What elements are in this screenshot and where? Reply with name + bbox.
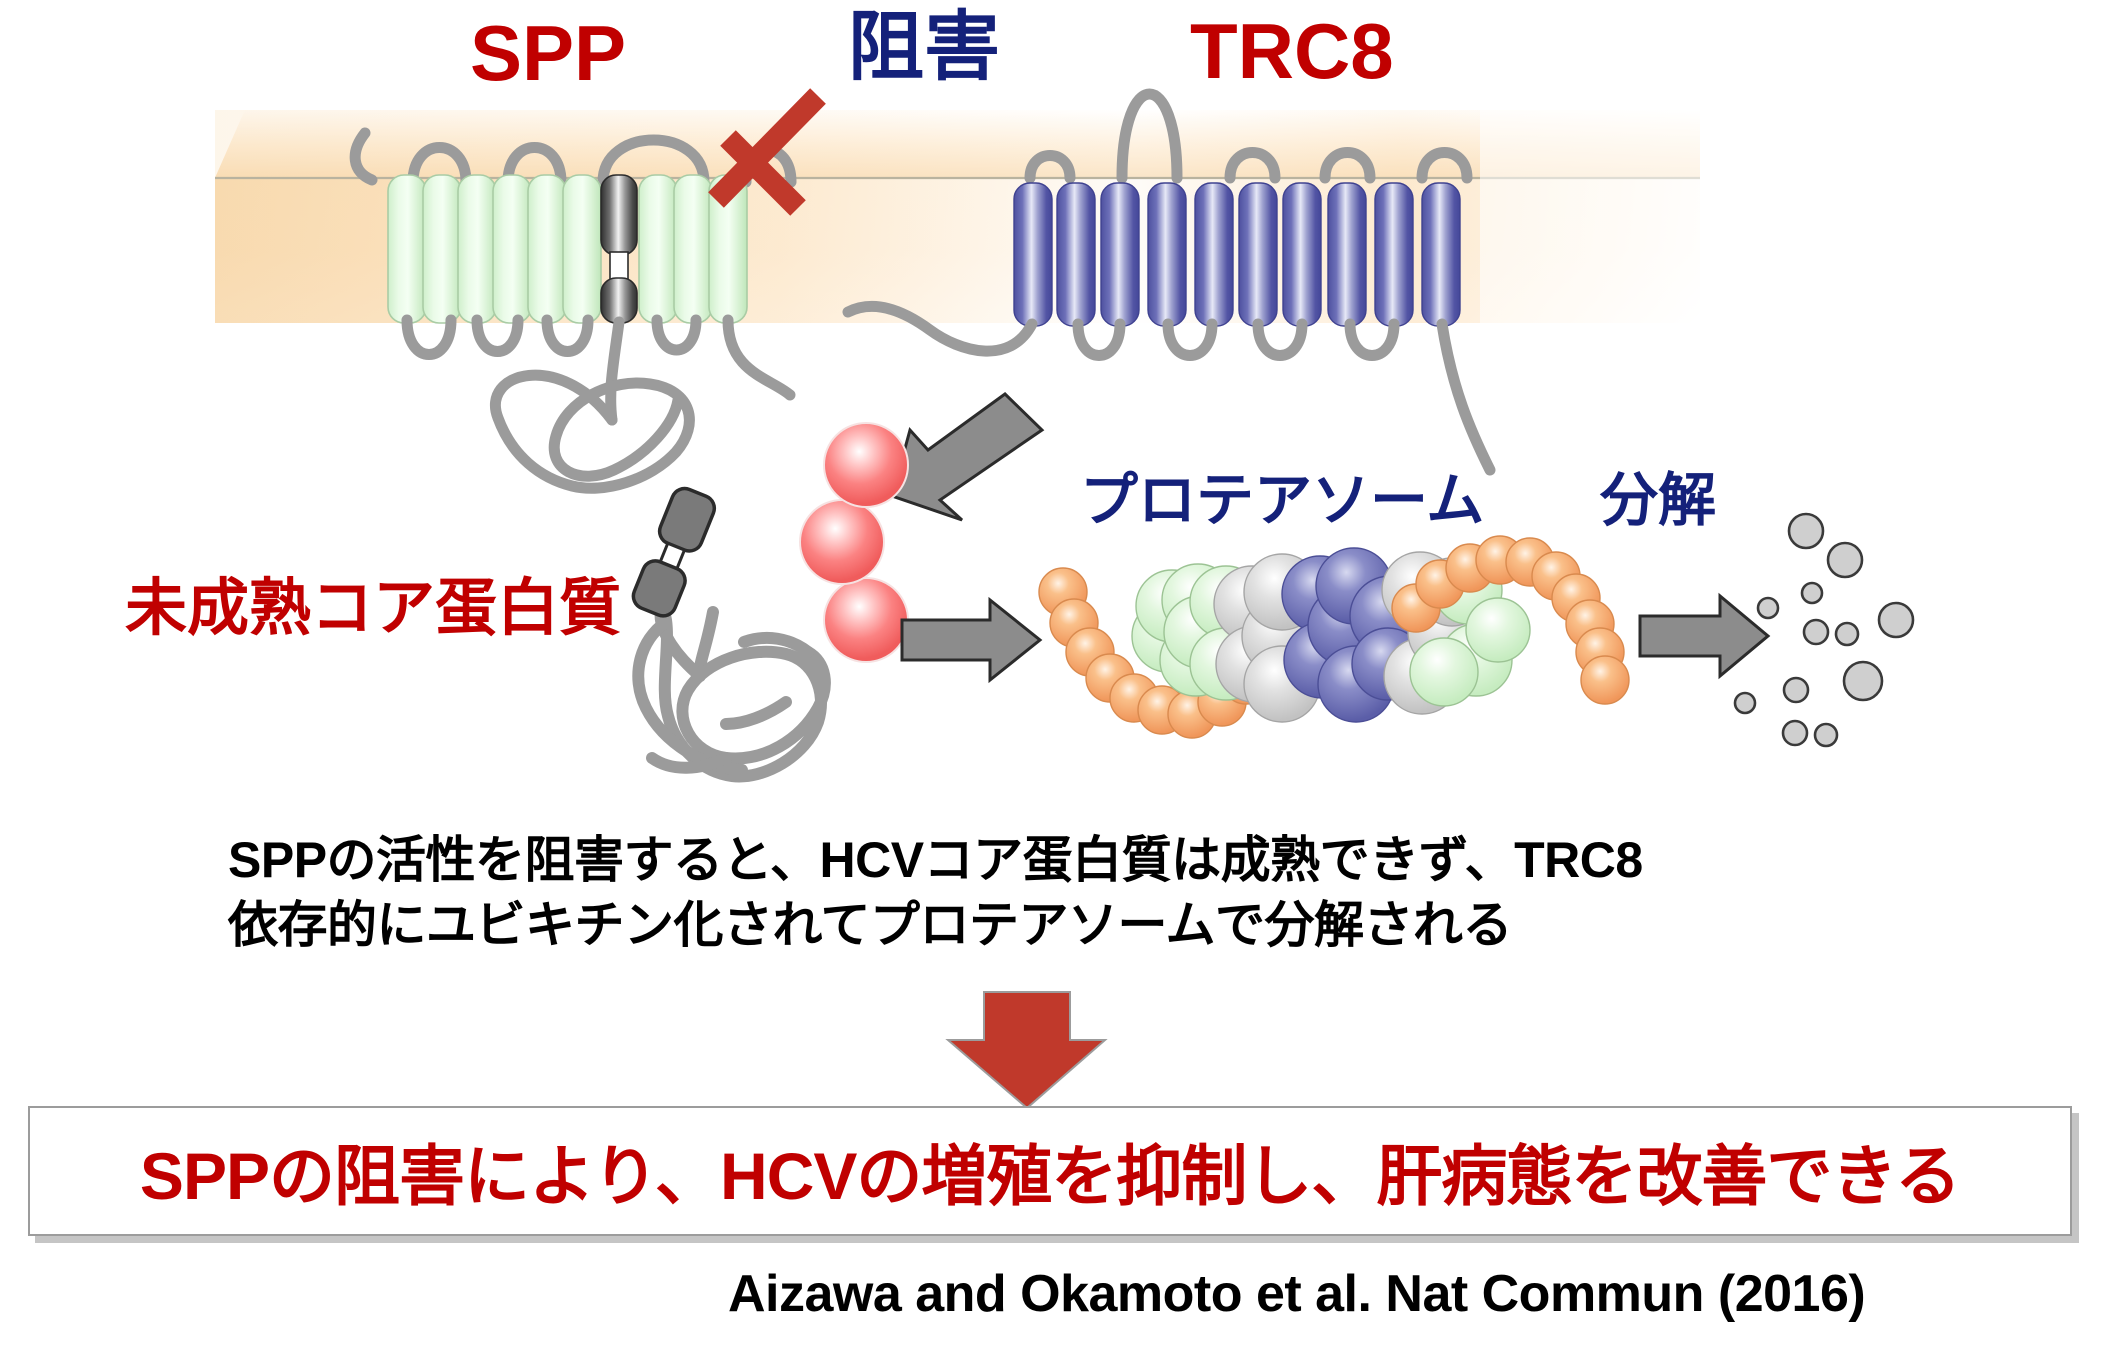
label-trc8: TRC8 [1190,12,1394,90]
immature-core-protein-graphic [629,423,908,776]
explanation-line-1: SPPの活性を阻害すると、HCVコア蛋白質は成熟できず、TRC8 [228,828,1928,893]
explanation-line-2: 依存的にユビキチン化されてプロテアソームで分解される [228,893,1928,958]
spp-transmembrane-helices [388,175,747,323]
proteasome-graphic [1039,536,1629,738]
label-inhibition: 阻害 [848,10,1000,86]
label-spp: SPP [470,14,626,92]
citation-text: Aizawa and Okamoto et al. Nat Commun (20… [728,1268,1865,1320]
label-degradation: 分解 [1600,472,1716,530]
right-gray-arrow-2 [1640,596,1768,676]
spp-catalytic-site [601,175,637,323]
ubiquitin-chain [800,423,908,662]
red-down-arrow [948,992,1105,1108]
conclusion-text: SPPの阻害により、HCVの増殖を抑制し、肝病態を改善できる [140,1123,1960,1219]
diagonal-gray-arrow [892,394,1042,520]
conclusion-box: SPPの阻害により、HCVの増殖を抑制し、肝病態を改善できる [28,1106,2072,1236]
label-immature-core-protein: 未成熟コア蛋白質 [125,578,621,640]
label-proteasome: プロテアソーム [1080,472,1484,530]
core-signal-peptide-blocks [629,485,718,620]
figure-canvas: SPP 阻害 TRC8 未成熟コア蛋白質 プロテアソーム 分解 SPPの活性を阻… [0,0,2121,1356]
right-gray-arrow-1 [902,600,1040,680]
explanation-text: SPPの活性を阻害すると、HCVコア蛋白質は成熟できず、TRC8 依存的にユビキ… [228,828,1928,958]
